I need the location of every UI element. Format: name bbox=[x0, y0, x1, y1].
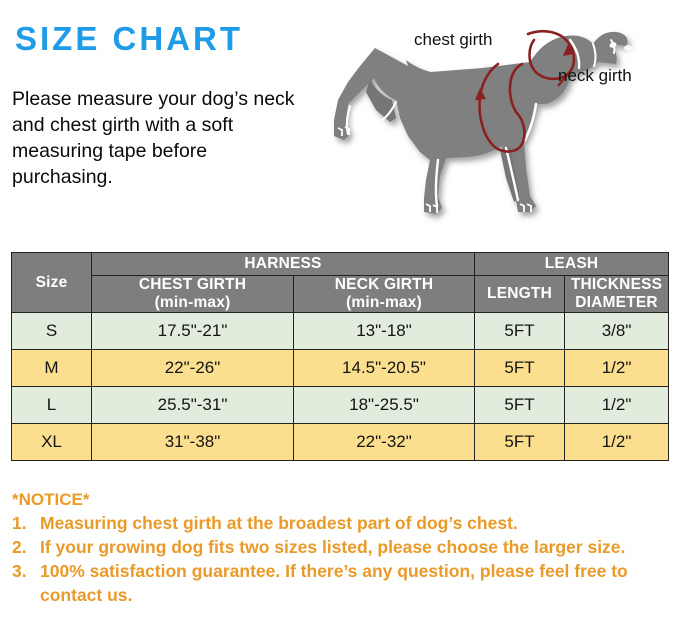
notice-item-number: 3. bbox=[12, 559, 36, 583]
cell-thickness: 1/2" bbox=[565, 387, 669, 424]
header-length: LENGTH bbox=[475, 276, 565, 313]
notice-item: 2. If your growing dog fits two sizes li… bbox=[12, 535, 672, 559]
notice-item: 1. Measuring chest girth at the broadest… bbox=[12, 511, 672, 535]
notice-item-number: 1. bbox=[12, 511, 36, 535]
notice-title: *NOTICE* bbox=[12, 489, 672, 511]
notice-item-text: 100% satisfaction guarantee. If there’s … bbox=[40, 561, 628, 605]
header-thickness-line1: THICKNESS bbox=[565, 276, 668, 294]
table-row: XL 31"-38" 22"-32" 5FT 1/2" bbox=[12, 424, 669, 461]
header-neck-girth-line1: NECK GIRTH bbox=[294, 276, 474, 294]
table-header-row-groups: Size HARNESS LEASH bbox=[12, 253, 669, 276]
page-title: SIZE CHART bbox=[15, 20, 243, 58]
cell-chest: 25.5"-31" bbox=[92, 387, 294, 424]
header-chest-girth-line1: CHEST GIRTH bbox=[92, 276, 293, 294]
cell-length: 5FT bbox=[475, 313, 565, 350]
notice-item-text: Measuring chest girth at the broadest pa… bbox=[40, 513, 518, 533]
cell-thickness: 1/2" bbox=[565, 350, 669, 387]
cell-size: M bbox=[12, 350, 92, 387]
header-size: Size bbox=[12, 253, 92, 313]
table-row: M 22"-26" 14.5"-20.5" 5FT 1/2" bbox=[12, 350, 669, 387]
header-thickness: THICKNESS DIAMETER bbox=[565, 276, 669, 313]
dog-nose bbox=[624, 45, 632, 51]
intro-paragraph: Please measure your dog’s neck and chest… bbox=[12, 86, 312, 190]
header-harness: HARNESS bbox=[92, 253, 475, 276]
dog-diagram: chest girth neck girth bbox=[330, 0, 679, 232]
table-header: Size HARNESS LEASH CHEST GIRTH (min-max)… bbox=[12, 253, 669, 313]
notice-section: *NOTICE* 1. Measuring chest girth at the… bbox=[12, 489, 672, 607]
header-section: SIZE CHART Please measure your dog’s nec… bbox=[0, 0, 679, 232]
header-chest-girth: CHEST GIRTH (min-max) bbox=[92, 276, 294, 313]
cell-thickness: 1/2" bbox=[565, 424, 669, 461]
notice-item-number: 2. bbox=[12, 535, 36, 559]
neck-girth-label: neck girth bbox=[558, 66, 632, 86]
cell-length: 5FT bbox=[475, 387, 565, 424]
table-header-row-subs: CHEST GIRTH (min-max) NECK GIRTH (min-ma… bbox=[12, 276, 669, 313]
header-neck-girth: NECK GIRTH (min-max) bbox=[294, 276, 475, 313]
cell-chest: 22"-26" bbox=[92, 350, 294, 387]
cell-length: 5FT bbox=[475, 424, 565, 461]
cell-length: 5FT bbox=[475, 350, 565, 387]
cell-neck: 13"-18" bbox=[294, 313, 475, 350]
header-thickness-line2: DIAMETER bbox=[565, 294, 668, 312]
cell-chest: 17.5"-21" bbox=[92, 313, 294, 350]
cell-neck: 14.5"-20.5" bbox=[294, 350, 475, 387]
cell-size: XL bbox=[12, 424, 92, 461]
cell-neck: 22"-32" bbox=[294, 424, 475, 461]
notice-list: 1. Measuring chest girth at the broadest… bbox=[12, 511, 672, 607]
notice-item: 3. 100% satisfaction guarantee. If there… bbox=[12, 559, 672, 607]
size-chart-table: Size HARNESS LEASH CHEST GIRTH (min-max)… bbox=[11, 252, 669, 461]
cell-size: S bbox=[12, 313, 92, 350]
cell-chest: 31"-38" bbox=[92, 424, 294, 461]
header-chest-girth-line2: (min-max) bbox=[92, 294, 293, 312]
notice-item-text: If your growing dog fits two sizes liste… bbox=[40, 537, 625, 557]
cell-neck: 18"-25.5" bbox=[294, 387, 475, 424]
header-leash: LEASH bbox=[475, 253, 669, 276]
chest-girth-label: chest girth bbox=[414, 30, 492, 50]
cell-size: L bbox=[12, 387, 92, 424]
table-body: S 17.5"-21" 13"-18" 5FT 3/8" M 22"-26" 1… bbox=[12, 313, 669, 461]
table-row: S 17.5"-21" 13"-18" 5FT 3/8" bbox=[12, 313, 669, 350]
header-neck-girth-line2: (min-max) bbox=[294, 294, 474, 312]
table-row: L 25.5"-31" 18"-25.5" 5FT 1/2" bbox=[12, 387, 669, 424]
cell-thickness: 3/8" bbox=[565, 313, 669, 350]
